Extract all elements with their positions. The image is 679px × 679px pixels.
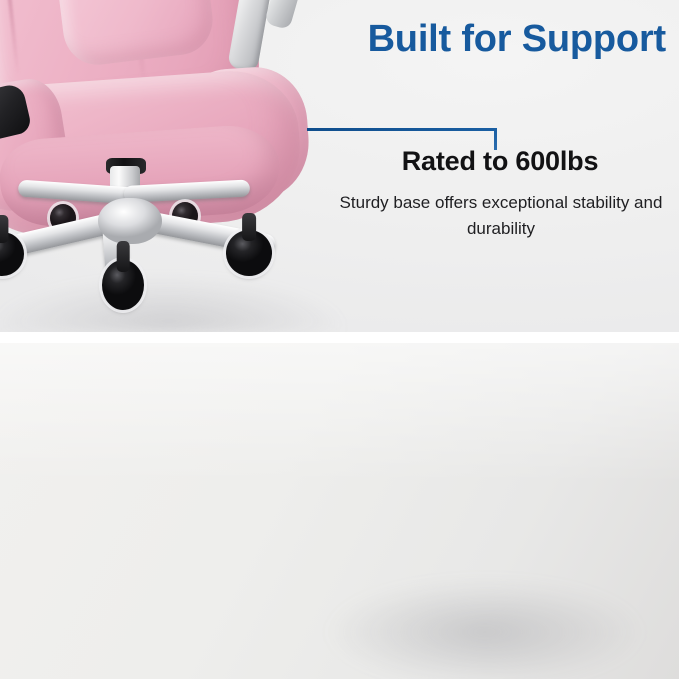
- panel-silent-smooth-wheels: Silent & Smooth Wheels Allowing you to s…: [0, 343, 679, 679]
- base-center-hub: [98, 198, 162, 244]
- callout-line-top-horizontal: [307, 128, 497, 131]
- caster-front: [102, 260, 144, 310]
- floor-shadow-bottom: [300, 527, 679, 677]
- feature-subtext-rated: Sturdy base offers exceptional stability…: [336, 190, 666, 241]
- backdrop-gradient-bottom: [0, 343, 679, 483]
- infographic-page: Built for Support Rated to 600lbs Sturdy…: [0, 0, 679, 679]
- caster-left: [0, 232, 24, 276]
- armrest-post-right-rear: [264, 0, 310, 30]
- caster-right: [226, 230, 272, 276]
- feature-heading-rated: Rated to 600lbs: [340, 146, 660, 177]
- panel-divider: [0, 332, 679, 343]
- page-title: Built for Support: [336, 18, 666, 61]
- office-chair-image: [0, 0, 334, 332]
- panel-built-for-support: Built for Support Rated to 600lbs Sturdy…: [0, 0, 679, 332]
